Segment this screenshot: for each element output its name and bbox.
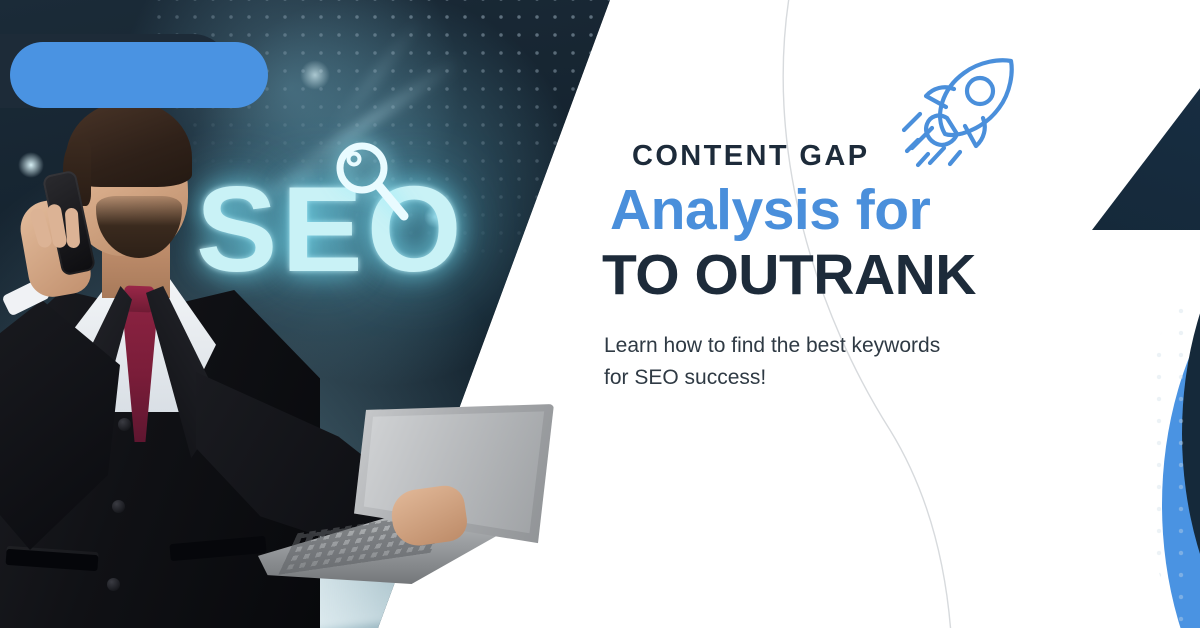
eyebrow-text: CONTENT GAP (632, 140, 1032, 173)
seo-banner: SEO (0, 0, 1200, 628)
headline-line-1: Analysis for (610, 179, 1032, 242)
headline-line-2: TO OUTRANK (602, 244, 1032, 307)
suit-button (107, 578, 120, 591)
headline-block: CONTENT GAP Analysis for TO OUTRANK Lear… (602, 140, 1032, 394)
finger (65, 208, 81, 249)
blue-pill-shape (10, 42, 268, 108)
subtitle-line-2: for SEO success! (604, 362, 1032, 394)
subtitle-line-1: Learn how to find the best keywords (604, 330, 1032, 362)
suit-button (112, 500, 125, 513)
right-dot-pattern (1038, 300, 1200, 628)
navy-corner-shape (1092, 0, 1200, 230)
suit-button (118, 418, 131, 431)
